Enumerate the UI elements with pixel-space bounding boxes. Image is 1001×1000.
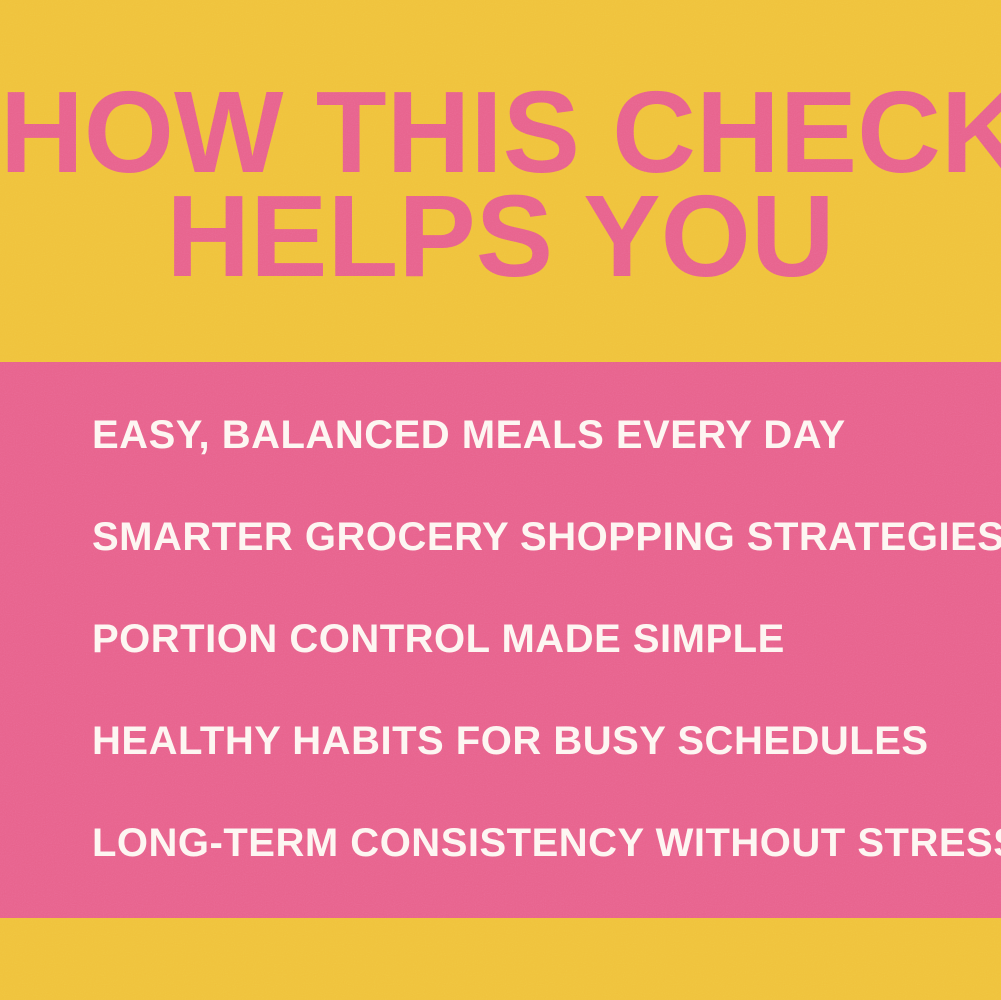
promo-poster: HOW THIS CHECKLIST HELPS YOU EASY, BALAN…: [0, 0, 1001, 1000]
benefit-item-4: HEALTHY HABITS FOR BUSY SCHEDULES: [92, 718, 952, 820]
title-line-two: HELPS YOU: [0, 184, 1001, 288]
benefit-item-2: SMARTER GROCERY SHOPPING STRATEGIES: [92, 514, 952, 616]
benefits-list: EASY, BALANCED MEALS EVERY DAY SMARTER G…: [92, 412, 952, 922]
poster-title: HOW THIS CHECKLIST HELPS YOU: [0, 80, 1001, 289]
title-line-one: HOW THIS CHECKLIST: [0, 80, 1001, 184]
benefit-item-5: LONG-TERM CONSISTENCY WITHOUT STRESS: [92, 820, 952, 922]
bottom-yellow-band: [0, 918, 1001, 1000]
benefit-item-1: EASY, BALANCED MEALS EVERY DAY: [92, 412, 952, 514]
benefit-item-3: PORTION CONTROL MADE SIMPLE: [92, 616, 952, 718]
